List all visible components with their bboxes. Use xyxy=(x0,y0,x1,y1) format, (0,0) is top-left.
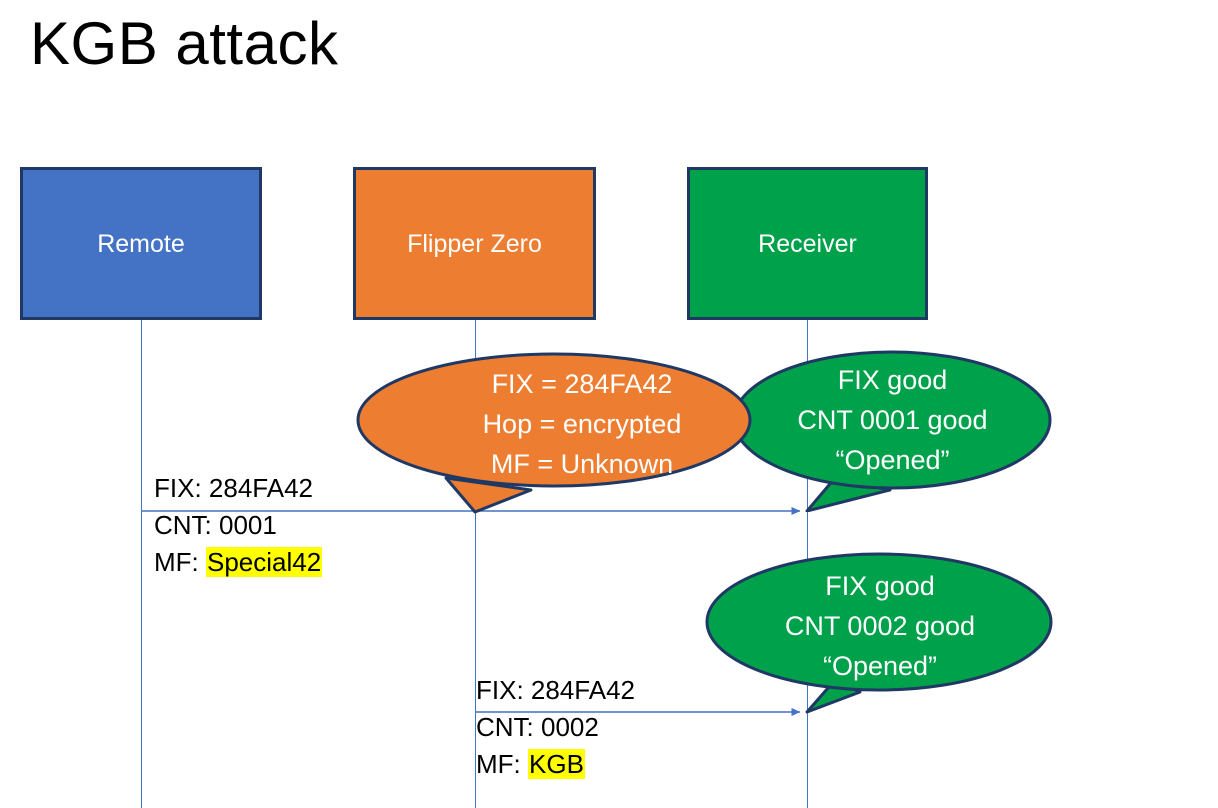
message-line-fix-label: FIX: xyxy=(476,675,531,705)
message-line-cnt: CNT: 0002 xyxy=(476,709,635,746)
actor-label-remote: Remote xyxy=(97,229,185,259)
message-label-1: FIX: 284FA42 CNT: 0001 MF: Special42 xyxy=(154,470,322,581)
message-line-mf-label: MF: xyxy=(476,749,528,779)
callout-receiver-2-text: FIX good CNT 0002 good “Opened” xyxy=(705,566,1055,686)
callout-receiver-2[interactable]: FIX good CNT 0002 good “Opened” xyxy=(705,552,1055,714)
callout-line-2: Hop = encrypted xyxy=(408,404,756,444)
message-line-cnt-label: CNT: xyxy=(154,510,219,540)
actor-box-receiver[interactable]: Receiver xyxy=(687,167,928,320)
message-line-cnt: CNT: 0001 xyxy=(154,507,322,544)
message-line-mf: MF: Special42 xyxy=(154,544,322,581)
callout-flipper-zero-text: FIX = 284FA42 Hop = encrypted MF = Unkno… xyxy=(356,364,756,484)
message-line-fix: FIX: 284FA42 xyxy=(154,470,322,507)
callout-line-1: FIX = 284FA42 xyxy=(408,364,756,404)
actor-box-remote[interactable]: Remote xyxy=(20,167,262,320)
callout-line-2: CNT 0001 good xyxy=(730,400,1055,440)
message-line-cnt-label: CNT: xyxy=(476,712,541,742)
actor-label-flipper-zero: Flipper Zero xyxy=(407,229,542,259)
message-line-fix-value: 284FA42 xyxy=(209,473,313,503)
message-line-fix: FIX: 284FA42 xyxy=(476,672,635,709)
message-line-fix-label: FIX: xyxy=(154,473,209,503)
actor-box-flipper-zero[interactable]: Flipper Zero xyxy=(353,167,596,320)
message-label-2: FIX: 284FA42 CNT: 0002 MF: KGB xyxy=(476,672,635,783)
message-line-cnt-value: 0002 xyxy=(541,712,599,742)
callout-line-1: FIX good xyxy=(730,360,1055,400)
message-line-mf: MF: KGB xyxy=(476,746,635,783)
message-line-mf-value-highlight: KGB xyxy=(528,749,585,779)
callout-line-3: “Opened” xyxy=(705,646,1055,686)
actor-label-receiver: Receiver xyxy=(758,229,857,259)
callout-receiver-1[interactable]: FIX good CNT 0001 good “Opened” xyxy=(730,350,1055,512)
callout-receiver-1-text: FIX good CNT 0001 good “Opened” xyxy=(730,360,1055,480)
slide-canvas: KGB attack Remote Flipper Zero Receiver … xyxy=(0,0,1218,808)
message-line-mf-label: MF: xyxy=(154,547,206,577)
callout-line-2: CNT 0002 good xyxy=(705,606,1055,646)
page-title: KGB attack xyxy=(30,8,338,80)
callout-line-1: FIX good xyxy=(705,566,1055,606)
callout-line-3: MF = Unknown xyxy=(408,444,756,484)
callout-flipper-zero[interactable]: FIX = 284FA42 Hop = encrypted MF = Unkno… xyxy=(356,352,756,512)
lifeline-remote xyxy=(141,320,142,808)
message-line-mf-value-highlight: Special42 xyxy=(206,547,322,577)
message-line-fix-value: 284FA42 xyxy=(531,675,635,705)
callout-line-3: “Opened” xyxy=(730,440,1055,480)
message-line-cnt-value: 0001 xyxy=(219,510,277,540)
